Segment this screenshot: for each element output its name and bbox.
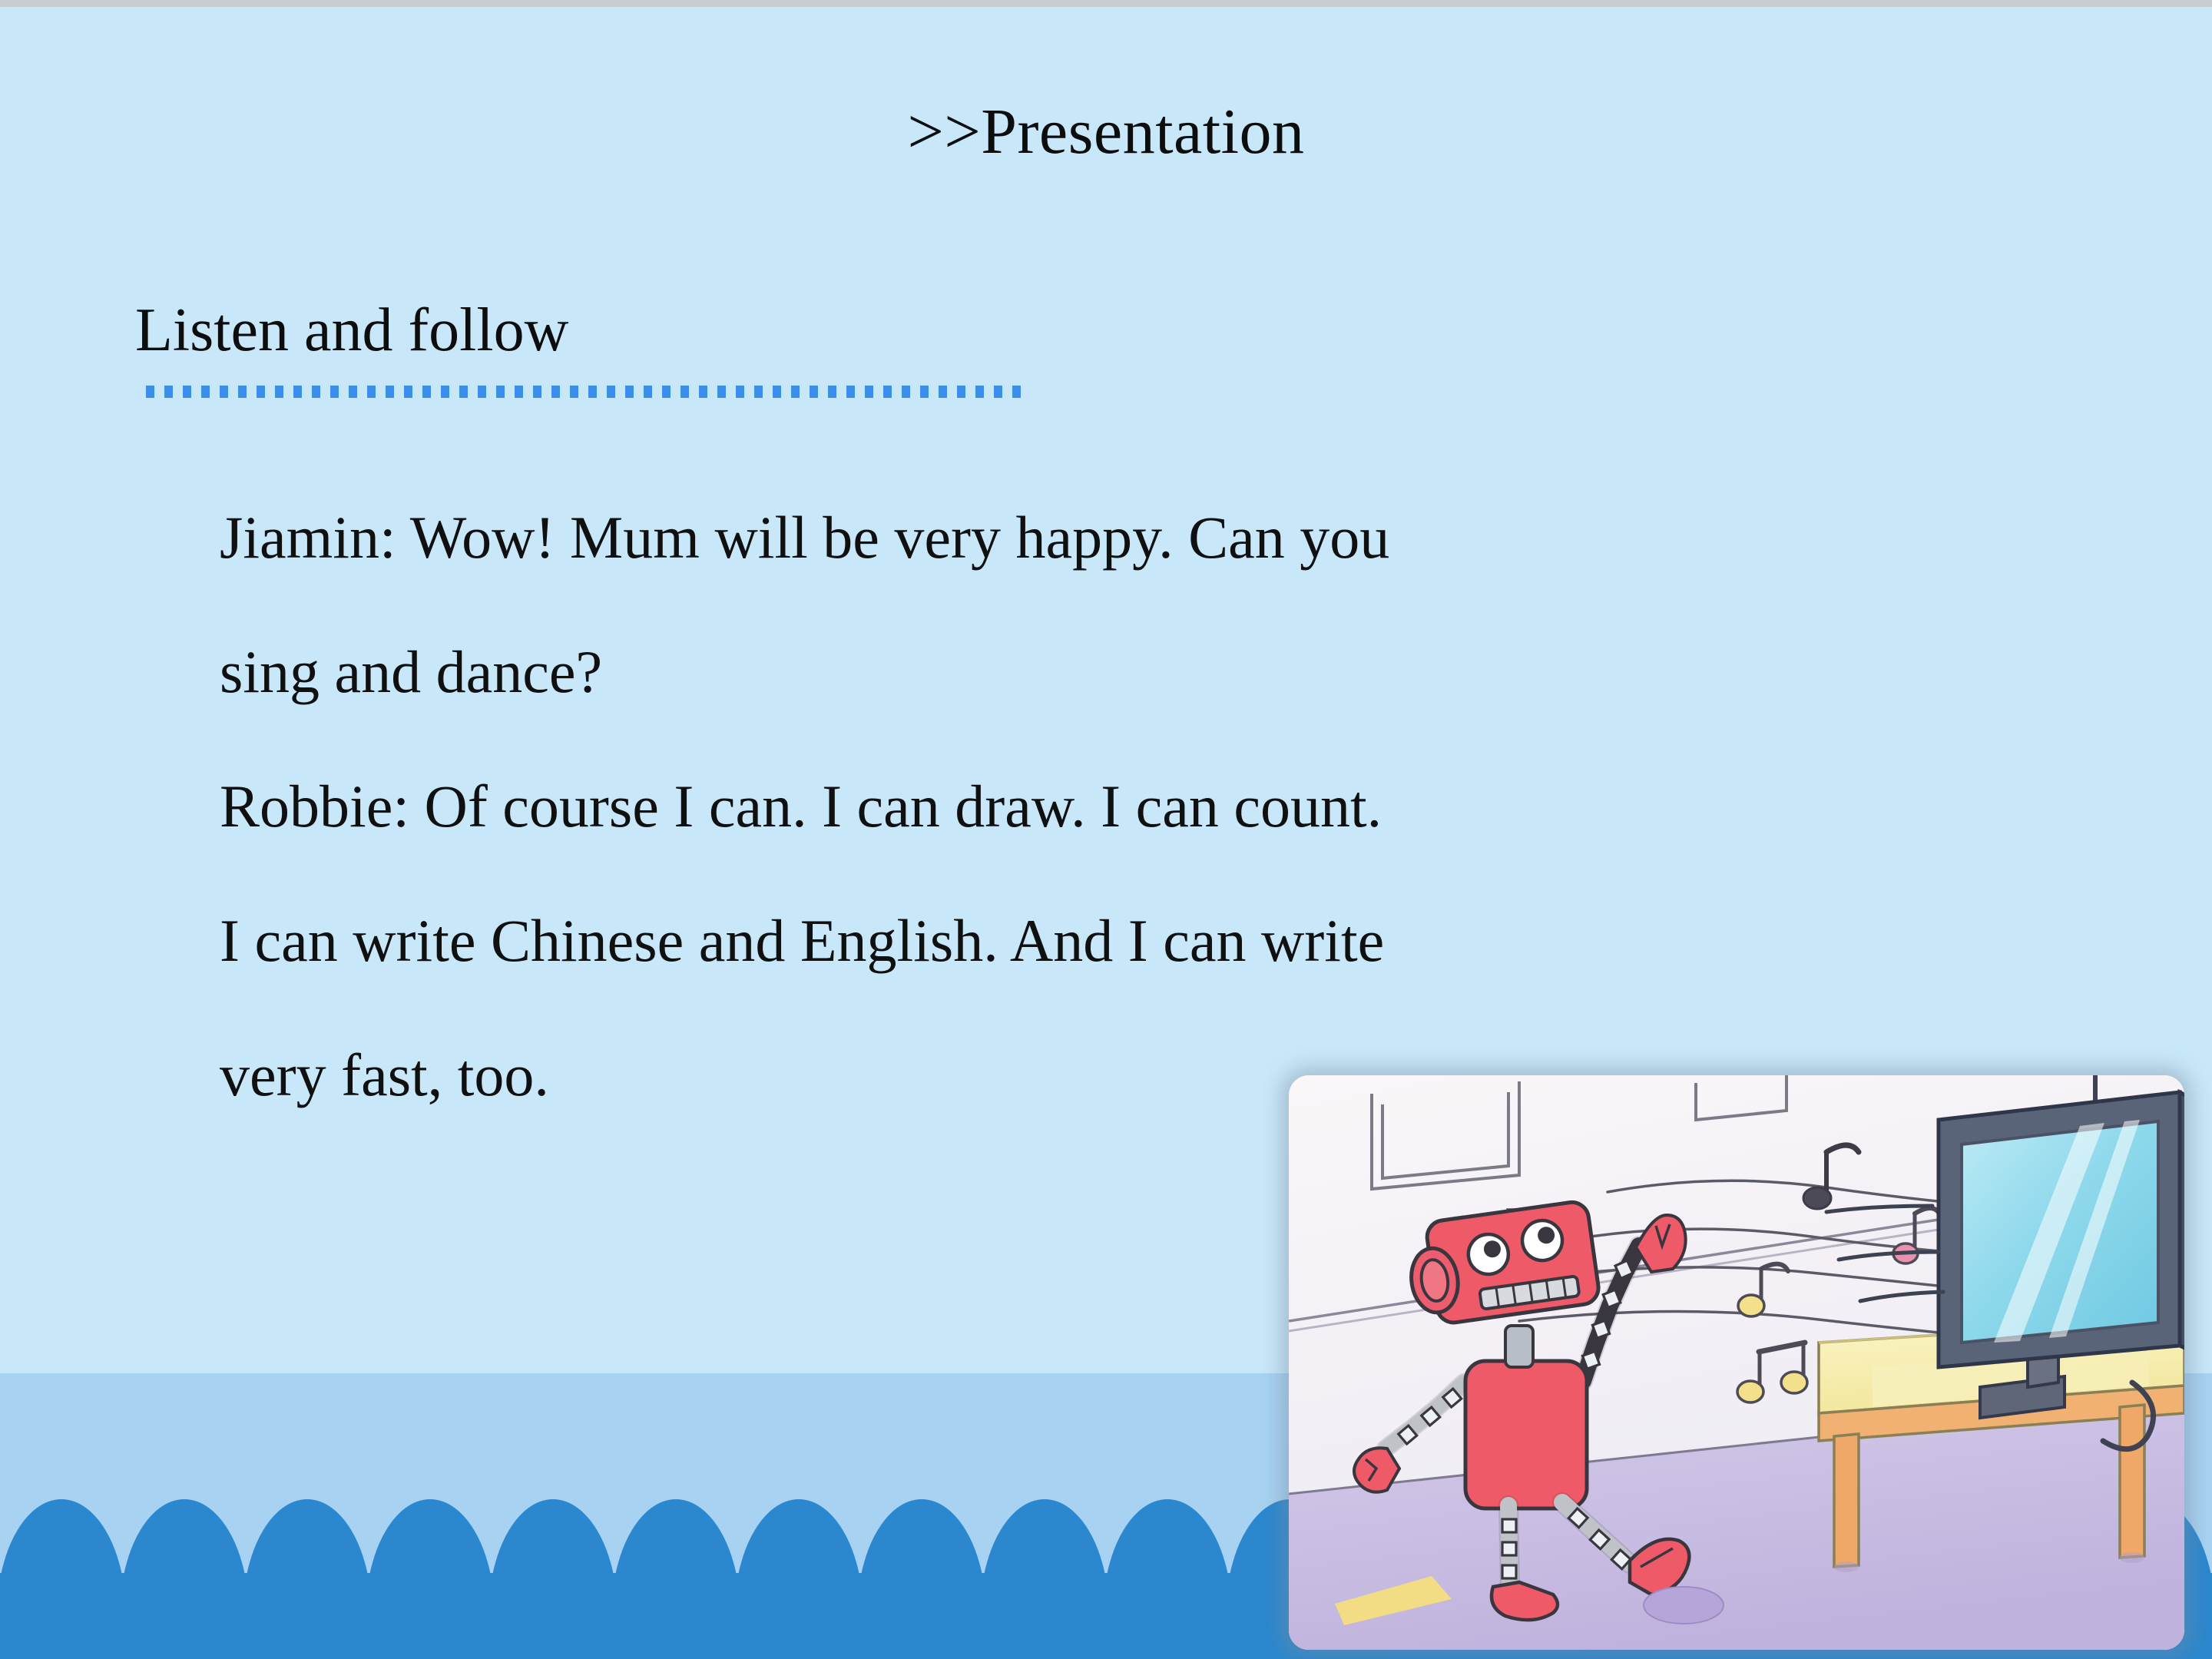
scallop-arch	[58, 1573, 187, 1659]
heading-underline-rule	[146, 386, 1022, 398]
scallop-arch	[181, 1573, 310, 1659]
dialogue-line: Jiamin: Wow! Mum will be very happy. Can…	[220, 470, 1833, 604]
dancing-robot-illustration	[1289, 1075, 2184, 1650]
section-heading: Listen and follow	[135, 298, 568, 363]
scallop-arch	[673, 1573, 802, 1659]
scallop-arch	[1041, 1573, 1171, 1659]
dialogue-text-block: Jiamin: Wow! Mum will be very happy. Can…	[220, 470, 1833, 1142]
dialogue-line: I can write Chinese and English. And I c…	[220, 873, 1833, 1008]
scallop-arch	[0, 1573, 65, 1659]
scallop-arch	[796, 1573, 925, 1659]
presentation-slide: >>Presentation Listen and follow Jiamin:…	[0, 0, 2212, 1659]
scallop-arch	[427, 1573, 556, 1659]
dialogue-line: Robbie: Of course I can. I can draw. I c…	[220, 739, 1833, 873]
page-title: >>Presentation	[0, 98, 2212, 166]
top-edge-strip	[0, 0, 2212, 7]
dialogue-line: sing and dance?	[220, 604, 1833, 739]
scallop-arch	[550, 1573, 679, 1659]
scallop-arch	[1164, 1573, 1293, 1659]
scallop-arch	[919, 1573, 1048, 1659]
scallop-arch	[304, 1573, 433, 1659]
